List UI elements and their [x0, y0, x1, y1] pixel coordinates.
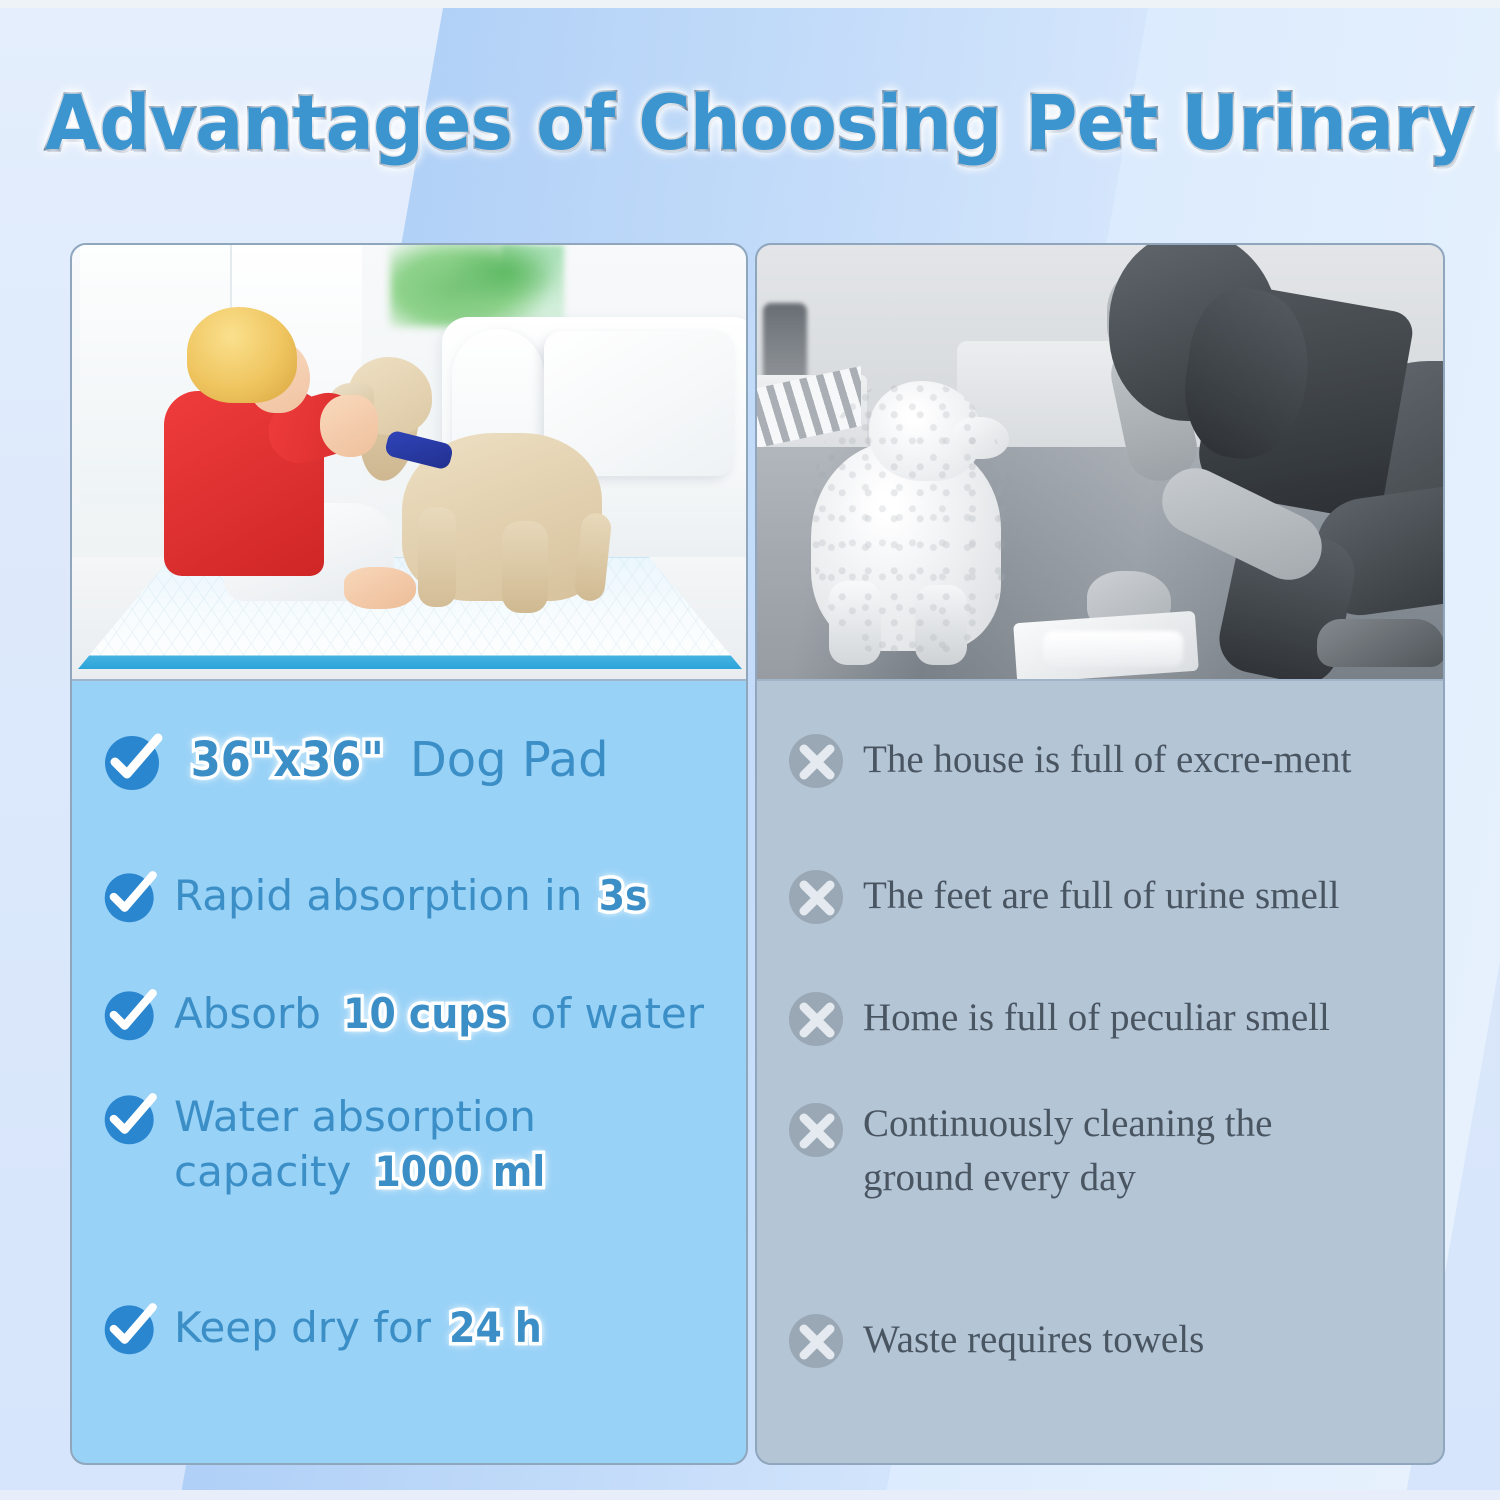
problem-item-5: Waste requires towels [757, 1265, 1443, 1415]
benefit-highlight-2: 3s [598, 868, 647, 923]
problem-text-3: Home is full of peculiar smell [863, 991, 1330, 1045]
problem-text-5: Waste requires towels [863, 1313, 1204, 1367]
benefit-highlight-1: 36"x36" [191, 729, 384, 792]
boy-blond-hair [187, 307, 297, 403]
plant-foliage-dark [444, 245, 554, 307]
benefit-item-2: Rapid absorption in 3s [72, 837, 746, 955]
benefit-text-4: Water absorption capacity 1000 ml [174, 1089, 554, 1200]
benefit-text-1: 36"x36" Dog Pad [180, 729, 609, 792]
bottom-edge-strip [0, 1490, 1500, 1500]
wipe-smear [1043, 631, 1183, 667]
problem-item-3: Home is full of peculiar smell [757, 957, 1443, 1079]
check-circle-icon [102, 729, 166, 793]
puppy-front-leg [418, 507, 456, 607]
benefit-item-3: Absorb 10 cups of water [72, 955, 746, 1073]
check-circle-icon [102, 985, 160, 1043]
poodle-curly-fur [811, 381, 1011, 661]
cross-circle-icon [785, 1097, 849, 1161]
panel-divider [757, 679, 1443, 681]
problem-line1-4: Continuously cleaning the [863, 1102, 1272, 1145]
puppy-hind-leg [502, 521, 548, 613]
woman-shoe [1317, 619, 1443, 667]
problem-item-4: Continuously cleaning the ground every d… [757, 1079, 1443, 1265]
problem-line2-4: ground every day [863, 1156, 1136, 1199]
benefit-pre-3: Absorb [174, 989, 334, 1038]
panel-divider [72, 679, 746, 681]
check-circle-icon [102, 867, 160, 925]
boy-foot [344, 567, 416, 609]
benefit-text-5: Keep dry for 24 h [174, 1300, 547, 1355]
cross-circle-icon [785, 1308, 849, 1372]
benefits-panel: 36"x36" Dog Pad Rapid absorption in 3s [70, 243, 748, 1465]
benefit-pre-5: Keep dry for [174, 1303, 444, 1352]
benefit-highlight-4: 1000 ml [374, 1144, 545, 1199]
check-circle-icon [102, 1089, 160, 1147]
cross-circle-icon [785, 728, 849, 792]
problem-text-4: Continuously cleaning the ground every d… [863, 1097, 1272, 1205]
benefit-highlight-5: 24 h [450, 1300, 543, 1355]
benefits-list: 36"x36" Dog Pad Rapid absorption in 3s [72, 685, 746, 1465]
benefit-item-5: Keep dry for 24 h [72, 1253, 746, 1403]
page-title: Advantages of Choosing Pet Urinary Mats [45, 78, 1455, 167]
benefit-line1-4: Water absorption [174, 1092, 536, 1141]
benefit-item-1: 36"x36" Dog Pad [72, 685, 746, 837]
benefit-pre-2: Rapid absorption in [174, 871, 596, 920]
problem-text-1: The house is full of excre-ment [863, 733, 1351, 787]
top-edge-strip [0, 0, 1500, 8]
problem-item-2: The feet are full of urine smell [757, 835, 1443, 957]
benefit-item-4: Water absorption capacity 1000 ml [72, 1073, 746, 1253]
photo-boy-with-puppy-on-pad [72, 245, 746, 679]
benefit-post-3: of water [517, 989, 704, 1038]
photo-woman-cleaning-floor [757, 245, 1443, 679]
infographic-canvas: Advantages of Choosing Pet Urinary Mats [0, 0, 1500, 1500]
problems-panel: The house is full of excre-ment The feet… [755, 243, 1445, 1465]
problem-item-1: The house is full of excre-ment [757, 685, 1443, 835]
cross-circle-icon [785, 864, 849, 928]
benefit-highlight-3: 10 cups [343, 986, 508, 1041]
check-circle-icon [102, 1299, 160, 1357]
problems-list: The house is full of excre-ment The feet… [757, 685, 1443, 1465]
benefit-line2-pre-4: capacity [174, 1147, 365, 1196]
benefit-text-3: Absorb 10 cups of water [174, 986, 704, 1041]
problem-text-2: The feet are full of urine smell [863, 869, 1339, 923]
benefit-text-2: Rapid absorption in 3s [174, 868, 650, 923]
boy-hand [320, 395, 378, 457]
cross-circle-icon [785, 986, 849, 1050]
benefit-post-1: Dog Pad [395, 732, 609, 788]
